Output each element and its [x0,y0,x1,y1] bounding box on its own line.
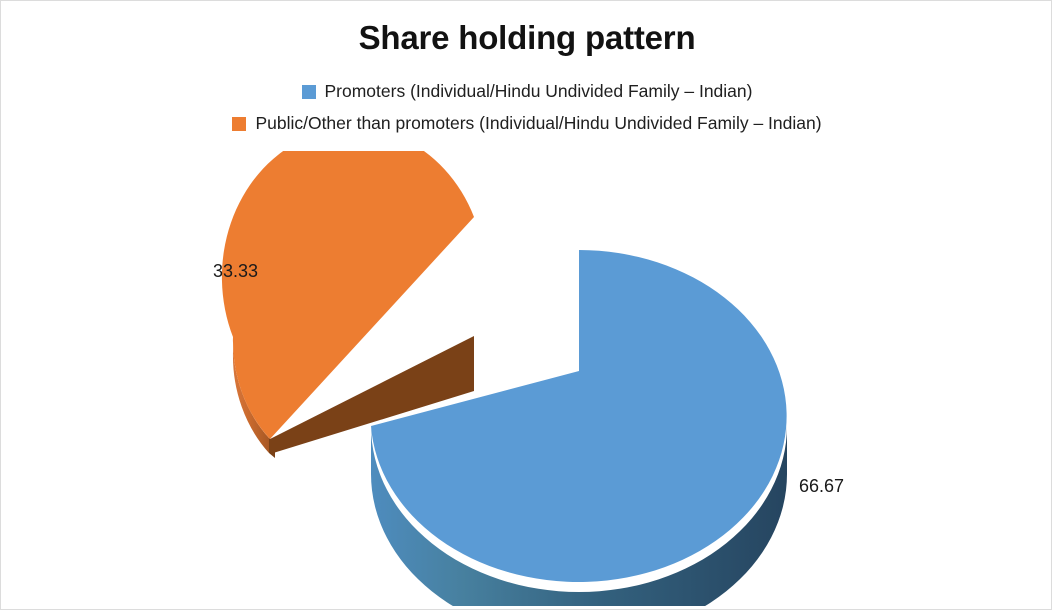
legend-item-label: Public/Other than promoters (Individual/… [255,113,821,134]
pie-chart-svg [1,151,1052,606]
pie-plot-area: 33.33 66.67 [1,151,1052,606]
chart-canvas: Share holding pattern Promoters (Individ… [0,0,1052,610]
page-title: Share holding pattern [1,19,1052,57]
pie-slice-top-face [371,250,787,582]
data-label-public-other: 33.33 [213,261,258,282]
chart-legend: Promoters (Individual/Hindu Undivided Fa… [1,81,1052,134]
legend-item-promoters[interactable]: Promoters (Individual/Hindu Undivided Fa… [302,81,753,102]
legend-item-public-other[interactable]: Public/Other than promoters (Individual/… [232,113,821,134]
pie-slice-promoters[interactable] [371,250,787,606]
data-label-promoters: 66.67 [799,476,844,497]
legend-item-label: Promoters (Individual/Hindu Undivided Fa… [325,81,753,102]
legend-swatch-icon [302,85,316,99]
legend-swatch-icon [232,117,246,131]
